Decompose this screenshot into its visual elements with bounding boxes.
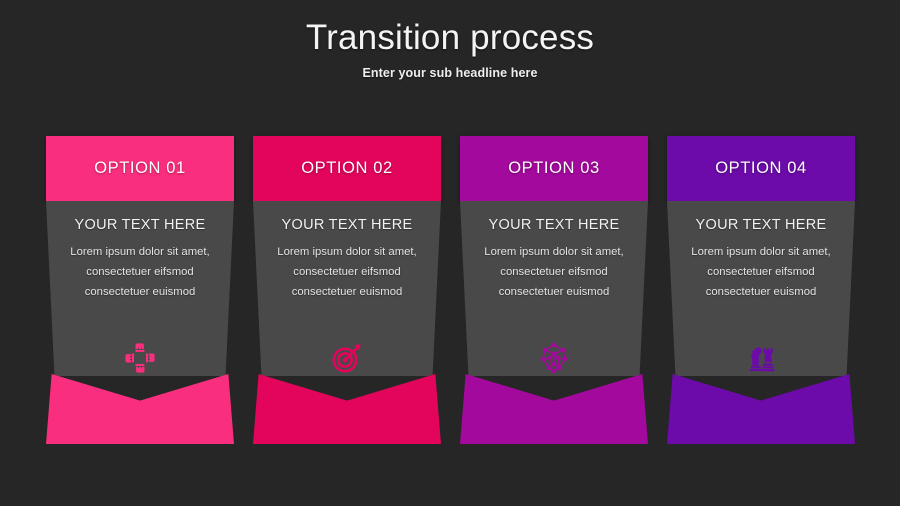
page-subtitle: Enter your sub headline here (0, 66, 900, 80)
slide-header: Transition process Enter your sub headli… (0, 0, 900, 80)
option-card-2-description: Lorem ipsum dolor sit amet, consectetuer… (267, 242, 427, 302)
option-card-4-heading: YOUR TEXT HERE (681, 217, 841, 233)
page-title: Transition process (0, 17, 900, 58)
option-card-4-footer (667, 374, 855, 444)
option-card-1-description: Lorem ipsum dolor sit amet, consectetuer… (60, 242, 220, 302)
option-card-4-body: YOUR TEXT HERE Lorem ipsum dolor sit ame… (667, 201, 855, 376)
option-card-2-footer (253, 374, 441, 444)
option-card-2-heading: YOUR TEXT HERE (267, 217, 427, 233)
option-card-1-footer (46, 374, 234, 444)
option-card-3-label: OPTION 03 (508, 159, 600, 178)
option-card-4-header[interactable]: OPTION 04 (667, 136, 855, 201)
option-card-1-label: OPTION 01 (94, 159, 186, 178)
slide-canvas: Transition process Enter your sub headli… (0, 0, 900, 506)
option-card-4-description: Lorem ipsum dolor sit amet, consectetuer… (681, 242, 841, 302)
option-card-3-heading: YOUR TEXT HERE (474, 217, 634, 233)
options-row: OPTION 01 YOUR TEXT HERE Lorem ipsum dol… (46, 136, 856, 446)
option-card-4[interactable]: OPTION 04 YOUR TEXT HERE Lorem ipsum dol… (667, 136, 855, 444)
option-card-1[interactable]: OPTION 01 YOUR TEXT HERE Lorem ipsum dol… (46, 136, 234, 444)
option-card-2-label: OPTION 02 (301, 159, 393, 178)
option-card-3-body: YOUR TEXT HERE Lorem ipsum dolor sit ame… (460, 201, 648, 376)
option-card-3-footer (460, 374, 648, 444)
option-card-1-body: YOUR TEXT HERE Lorem ipsum dolor sit ame… (46, 201, 234, 376)
option-card-3-header[interactable]: OPTION 03 (460, 136, 648, 201)
option-card-2-header[interactable]: OPTION 02 (253, 136, 441, 201)
option-card-1-header[interactable]: OPTION 01 (46, 136, 234, 201)
option-card-2-body: YOUR TEXT HERE Lorem ipsum dolor sit ame… (253, 201, 441, 376)
option-card-1-heading: YOUR TEXT HERE (60, 217, 220, 233)
option-card-3-description: Lorem ipsum dolor sit amet, consectetuer… (474, 242, 634, 302)
option-card-3[interactable]: OPTION 03 YOUR TEXT HERE Lorem ipsum dol… (460, 136, 648, 444)
option-card-2[interactable]: OPTION 02 YOUR TEXT HERE Lorem ipsum dol… (253, 136, 441, 444)
option-card-4-label: OPTION 04 (715, 159, 807, 178)
